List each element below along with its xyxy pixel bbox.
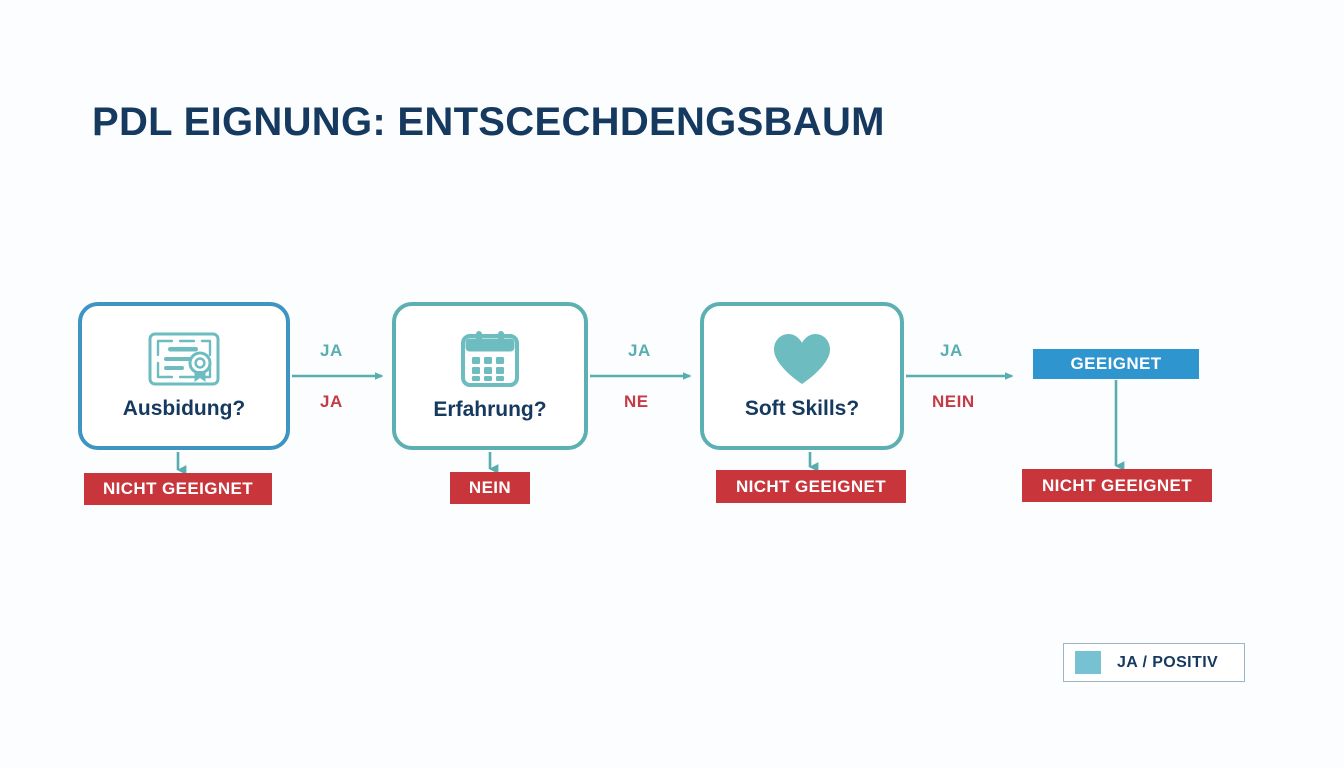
heart-icon	[772, 332, 832, 391]
decision-node-label: Ausbidung?	[123, 397, 245, 421]
edge-label-erfahrung-no: NE	[624, 392, 649, 412]
decision-node-label: Soft Skills?	[745, 397, 859, 421]
outcome-badge-final-nicht-geeignet: NICHT GEEIGNET	[1022, 469, 1212, 502]
edge-label-soft-skills-no: NEIN	[932, 392, 975, 412]
decision-node-label: Erfahrung?	[433, 398, 546, 422]
decision-node-erfahrung[interactable]: Erfahrung?	[392, 302, 588, 450]
legend-swatch-positive	[1075, 651, 1101, 674]
certificate-icon	[148, 332, 220, 391]
edge-label-ausbildung-yes: JA	[320, 341, 343, 361]
page-title: PDL EIGNUNG: ENTSCECHDENGSBAUM	[92, 100, 885, 145]
edge-label-ausbildung-no: JA	[320, 392, 343, 412]
edge-label-erfahrung-yes: JA	[628, 341, 651, 361]
outcome-badge-ausbildung-negative: NICHT GEEIGNET	[84, 473, 272, 505]
edge-label-soft-skills-yes: JA	[940, 341, 963, 361]
outcome-badge-erfahrung-negative: NEIN	[450, 472, 530, 504]
decision-node-soft-skills[interactable]: Soft Skills?	[700, 302, 904, 450]
decision-node-ausbildung[interactable]: Ausbidung?	[78, 302, 290, 450]
legend: JA / POSITIV	[1063, 643, 1245, 682]
outcome-badge-soft-skills-negative: NICHT GEEIGNET	[716, 470, 906, 503]
legend-label-positive: JA / POSITIV	[1117, 654, 1218, 672]
calendar-icon	[461, 331, 519, 392]
outcome-badge-geeignet: GEEIGNET	[1033, 349, 1199, 379]
